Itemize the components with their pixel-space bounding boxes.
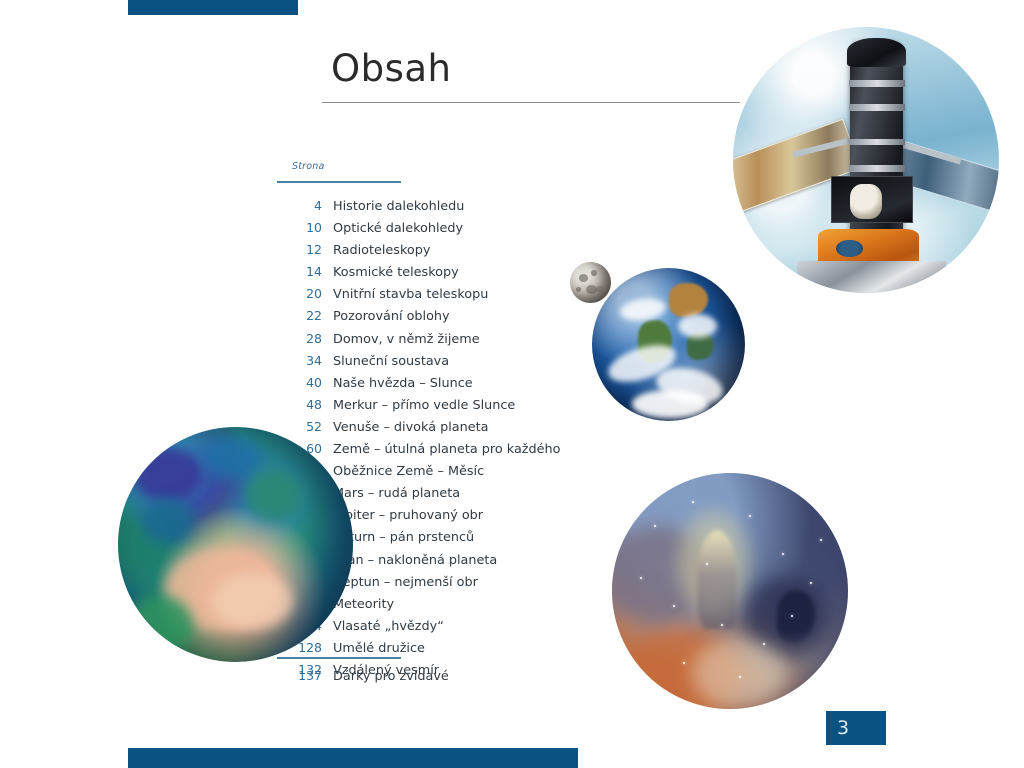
star [692,501,694,503]
toc-entry-page-number: 52 [277,419,322,434]
toc-entry[interactable]: 14Kosmické teleskopy [277,264,607,286]
nebula-photo [612,473,848,709]
column-header-rule [277,181,401,183]
venus-surface-map-photo [118,427,353,662]
book-page: Obsah Strona 4Historie dalekohledu10Opti… [0,0,1024,768]
earth-cloud [618,296,666,324]
venus-terrain-region [142,498,194,545]
hubble-aperture-door [847,38,906,67]
toc-entry-page-number: 137 [277,668,322,683]
hubble-ring [849,104,905,111]
hubble-space-telescope-photo [733,27,999,293]
toc-entry-page-number: 4 [277,198,322,213]
nebula-pillar [697,530,737,629]
toc-entry-page-number: 20 [277,286,322,301]
nebula-cloud [692,638,786,709]
table-of-contents-appendix: 137Dárky pro zvídavé [277,668,607,690]
toc-entry-label: Merkur – přímo vedle Slunce [333,398,515,413]
hubble-lower-structure [797,261,946,293]
toc-appendix-divider [277,657,401,659]
toc-entry-label: Saturn – pán prstenců [333,530,474,545]
toc-entry-label: Venuše – divoká planeta [333,420,488,435]
moon-photo [570,262,611,303]
toc-entry-page-number: 34 [277,353,322,368]
toc-entry-label: Vlasaté „hvězdy“ [333,619,444,634]
venus-terrain-region [127,596,193,652]
toc-entry-label: Země – útulná planeta pro každého [333,442,560,457]
toc-entry[interactable]: 137Dárky pro zvídavé [277,668,607,690]
toc-entry[interactable]: 48Merkur – přímo vedle Slunce [277,397,607,419]
toc-entry-label: Domov, v němž žijeme [333,332,480,347]
toc-entry-page-number: 28 [277,331,322,346]
toc-entry-label: Radioteleskopy [333,243,430,258]
toc-entry-label: Dárky pro zvídavé [333,669,449,684]
bottom-decoration-bar [128,748,578,768]
toc-entry-label: Historie dalekohledu [333,199,464,214]
page-number-text: 3 [837,717,849,739]
title-underline-rule [322,102,740,103]
toc-entry[interactable]: 60Země – útulná planeta pro každého [277,441,607,463]
toc-entry-label: Vnitřní stavba teleskopu [333,287,488,302]
venus-terrain-region [212,573,292,629]
toc-entry-page-number: 22 [277,308,322,323]
venus-terrain-region [132,446,203,502]
toc-entry-label: Pozorování oblohy [333,309,450,324]
star [782,553,784,555]
toc-entry-page-number: 14 [277,264,322,279]
page-column-header: Strona [292,161,325,172]
toc-entry-label: Mars – rudá planeta [333,486,460,501]
top-decoration-bar [128,0,298,15]
toc-entry[interactable]: 12Radioteleskopy [277,242,607,264]
star [749,515,751,517]
hubble-ring [849,165,905,172]
earth-cloud [678,314,718,338]
star [820,539,822,541]
toc-entry[interactable]: 4Historie dalekohledu [277,198,607,220]
toc-entry[interactable]: 34Sluneční soustava [277,353,607,375]
toc-entry-page-number: 40 [277,375,322,390]
toc-entry-label: Jupiter – pruhovaný obr [333,508,483,523]
toc-entry[interactable]: 128Umělé družice [277,640,607,662]
toc-entry[interactable]: 20Vnitřní stavba teleskopu [277,286,607,308]
toc-entry[interactable]: 10Optické dalekohledy [277,220,607,242]
earth-cloud [632,390,709,418]
astronaut-figure [850,184,882,219]
moon-crater [591,270,597,275]
hubble-ring [849,80,905,87]
toc-entry[interactable]: 124Vlasaté „hvězdy“ [277,618,607,640]
star [721,624,723,626]
toc-entry-label: Optické dalekohledy [333,221,463,236]
page-number-badge: 3 [826,711,886,745]
earth-photo [592,268,745,421]
star [810,582,812,584]
toc-entry-label: Neptun – nejmenší obr [333,575,478,590]
toc-entry-label: Uran – nakloněná planeta [333,553,497,568]
toc-entry-page-number: 12 [277,242,322,257]
toc-entry[interactable]: 40Naše hvězda – Slunce [277,375,607,397]
earth-landmass [669,283,709,317]
moon-crater [579,274,588,282]
toc-entry-label: Kosmické teleskopy [333,265,459,280]
venus-terrain-region [245,469,301,521]
toc-entry-page-number: 48 [277,397,322,412]
toc-entry-label: Oběžnice Země – Měsíc [333,464,484,479]
moon-crater [576,287,581,292]
star [763,643,765,645]
hubble-ring [849,139,905,146]
toc-entry-label: Meteority [333,597,394,612]
toc-entry-label: Umělé družice [333,641,425,656]
toc-entry-page-number: 10 [277,220,322,235]
page-title: Obsah [331,50,452,87]
toc-entry[interactable]: 28Domov, v němž žijeme [277,331,607,353]
toc-entry-label: Naše hvězda – Slunce [333,376,473,391]
moon-crater [596,286,603,293]
toc-entry-label: Sluneční soustava [333,354,449,369]
star [683,662,685,664]
venus-terrain-region [203,436,264,478]
toc-entry[interactable]: 52Venuše – divoká planeta [277,419,607,441]
toc-entry[interactable]: 22Pozorování oblohy [277,308,607,330]
